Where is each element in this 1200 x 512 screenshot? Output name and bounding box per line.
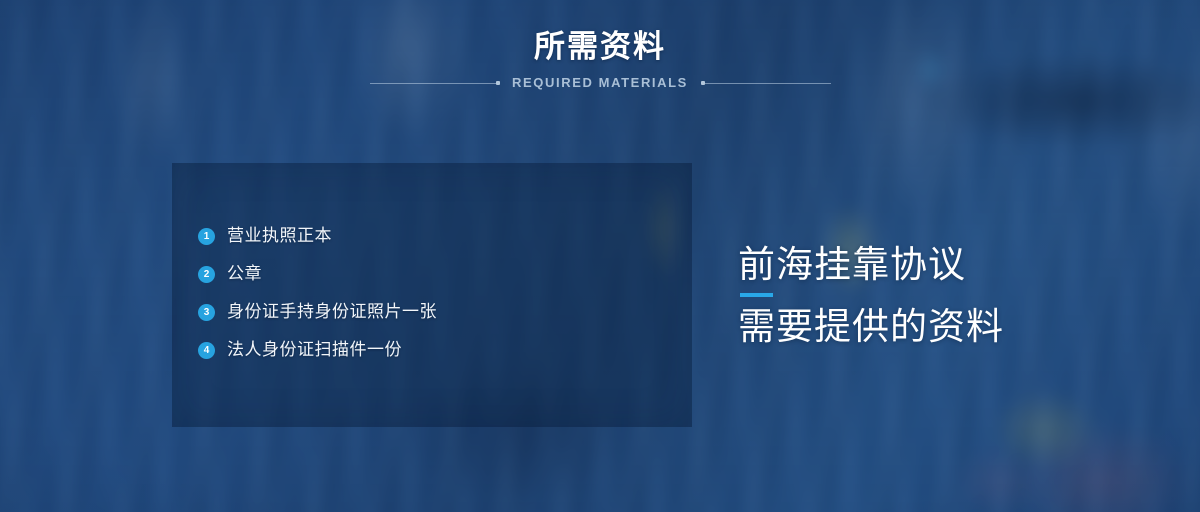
list-item-number-badge: 2 (198, 266, 215, 283)
list-item-label: 法人身份证扫描件一份 (227, 339, 402, 361)
list-item-number-badge: 3 (198, 304, 215, 321)
divider-line-left-icon (370, 83, 496, 84)
list-item-label: 身份证手持身份证照片一张 (227, 301, 437, 323)
list-item: 3 身份证手持身份证照片一张 (198, 294, 692, 330)
divider-dot-left-icon (496, 81, 500, 85)
headline-block: 前海挂靠协议 需要提供的资料 (738, 243, 1158, 349)
banner-root: 所需资料 REQUIRED MATERIALS 1 营业执照正本 2 公章 3 … (0, 0, 1200, 512)
subtitle-row: REQUIRED MATERIALS (0, 73, 1200, 93)
list-item: 2 公章 (198, 256, 692, 292)
list-item-number-badge: 1 (198, 228, 215, 245)
headline-line-1: 前海挂靠协议 (738, 243, 1158, 287)
headline-accent-bar (740, 293, 773, 297)
materials-list: 1 营业执照正本 2 公章 3 身份证手持身份证照片一张 4 法人身份证扫描件一… (198, 218, 692, 370)
materials-panel: 1 营业执照正本 2 公章 3 身份证手持身份证照片一张 4 法人身份证扫描件一… (172, 163, 692, 427)
headline-line-2: 需要提供的资料 (738, 305, 1158, 349)
list-item: 1 营业执照正本 (198, 218, 692, 254)
list-item: 4 法人身份证扫描件一份 (198, 332, 692, 368)
list-item-number-badge: 4 (198, 342, 215, 359)
page-subtitle: REQUIRED MATERIALS (0, 73, 1200, 93)
divider-line-right-icon (705, 83, 831, 84)
page-title: 所需资料 (0, 28, 1200, 66)
section-header: 所需资料 REQUIRED MATERIALS (0, 28, 1200, 93)
list-item-label: 公章 (227, 263, 262, 285)
list-item-label: 营业执照正本 (227, 225, 332, 247)
